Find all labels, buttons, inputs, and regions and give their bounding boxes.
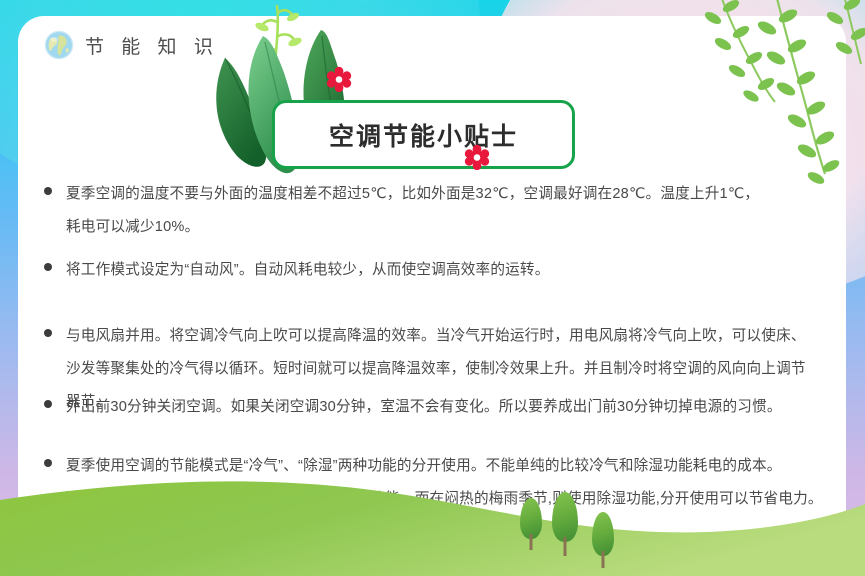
- header: 节 能 知 识: [44, 30, 219, 60]
- tip-text: 夏季使用空调的节能模式是“冷气”、“除湿”两种功能的分开使用。不能单纯的比较冷气…: [66, 450, 823, 516]
- tip-item-auto-fan-mode: 将工作模式设定为“自动风”。自动风耗电较少，从而使空调高效率的运转。: [44, 254, 834, 287]
- tip-text: 将工作模式设定为“自动风”。自动风耗电较少，从而使空调高效率的运转。: [66, 254, 550, 287]
- bullet-dot-icon: [44, 263, 52, 271]
- slide-canvas: 节 能 知 识: [0, 0, 865, 576]
- banner-box: 空调节能小贴士: [272, 100, 575, 169]
- tip-item-cooling-vs-dehumidify: 夏季使用空调的节能模式是“冷气”、“除湿”两种功能的分开使用。不能单纯的比较冷气…: [44, 450, 834, 516]
- tip-item-turn-off-before-leaving: 外出前30分钟关闭空调。如果关闭空调30分钟，室温不会有变化。所以要养成出门前3…: [44, 391, 834, 424]
- bullet-dot-icon: [44, 187, 52, 195]
- earth-globe-icon: [44, 30, 74, 60]
- bullet-dot-icon: [44, 400, 52, 408]
- bullet-dot-icon: [44, 329, 52, 337]
- tip-text: 夏季空调的温度不要与外面的温度相差不超过5℃，比如外面是32℃，空调最好调在28…: [66, 178, 759, 244]
- bullet-dot-icon: [44, 459, 52, 467]
- tip-text: 外出前30分钟关闭空调。如果关闭空调30分钟，室温不会有变化。所以要养成出门前3…: [66, 391, 782, 424]
- banner-title: 空调节能小贴士: [329, 117, 518, 153]
- page-title: 节 能 知 识: [85, 32, 219, 59]
- tip-item-temperature-difference: 夏季空调的温度不要与外面的温度相差不超过5℃，比如外面是32℃，空调最好调在28…: [44, 178, 834, 244]
